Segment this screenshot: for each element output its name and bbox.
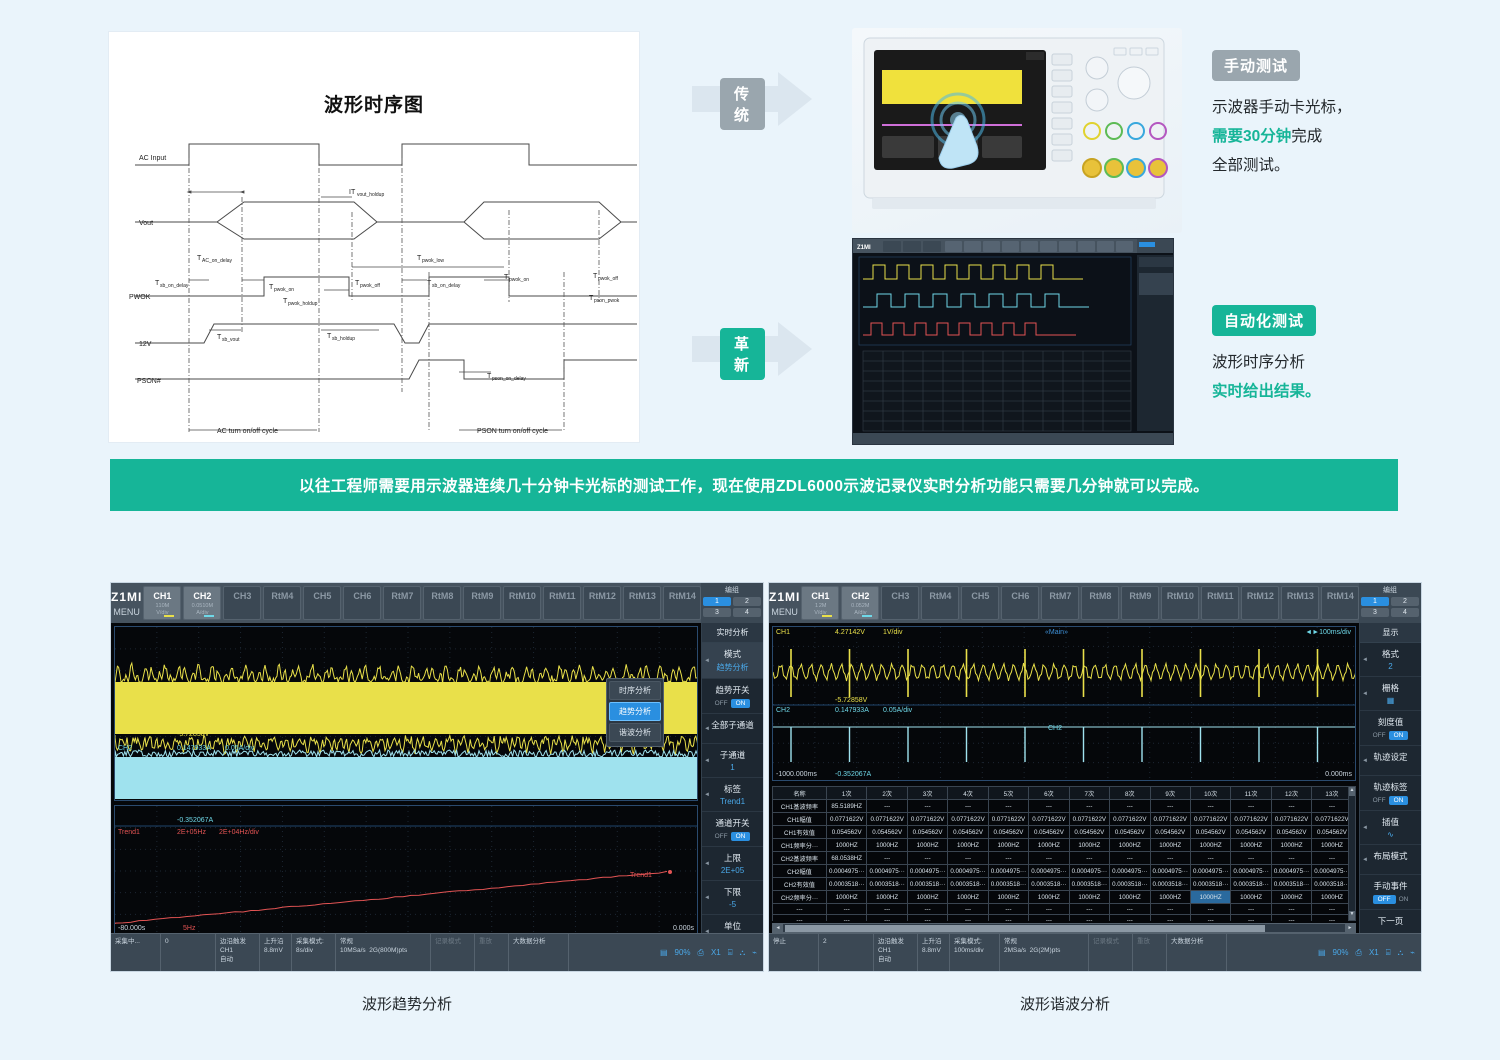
table-cell[interactable]: 1000HZ	[1150, 839, 1190, 852]
table-cell[interactable]: ---	[1069, 852, 1109, 865]
table-cell[interactable]: ---	[1312, 800, 1352, 813]
table-cell[interactable]: 0.0004975···	[1029, 865, 1069, 878]
table-cell[interactable]: 0.0771622V	[1312, 813, 1352, 826]
table-cell[interactable]: ---	[1271, 904, 1311, 915]
table-cell[interactable]: ---	[907, 852, 947, 865]
svg-text:PWOK: PWOK	[129, 294, 151, 301]
menu-item-格式[interactable]: ◄格式2	[1360, 643, 1421, 677]
status-sample: 常规 2MSa/s 2G(2M)pts	[1000, 934, 1089, 971]
table-cell[interactable]: ---	[988, 800, 1028, 813]
table-cell[interactable]: 0.0771622V	[948, 813, 988, 826]
table-cell[interactable]: 1000HZ	[1271, 891, 1311, 904]
table-cell[interactable]: 0.054562V	[1190, 826, 1230, 839]
table-cell[interactable]: 0.0003518···	[1150, 878, 1190, 891]
table-cell[interactable]: ---	[1029, 904, 1069, 915]
popup-item-trend[interactable]: 趋势分析	[609, 702, 661, 721]
table-cell[interactable]: ---	[1150, 904, 1190, 915]
table-cell[interactable]: ---	[1312, 852, 1352, 865]
table-cell[interactable]: ---	[1029, 915, 1069, 922]
svg-text:IT: IT	[349, 189, 356, 196]
menu-item-模式[interactable]: ◄模式趋势分析	[702, 643, 763, 679]
table-cell[interactable]: 0.0771622V	[867, 813, 907, 826]
menu-button-right[interactable]: MENU	[771, 607, 798, 617]
printer-icon[interactable]: ⎙	[698, 948, 704, 958]
sidemenu-items-left: ◄模式趋势分析趋势开关OFFON◄全部子通道◄子通道1◄标签Trend1通道开关…	[702, 643, 763, 949]
channel-tab-ch6[interactable]: CH6	[343, 586, 381, 620]
table-cell[interactable]: 0.0771622V	[1190, 813, 1230, 826]
table-cell[interactable]: ---	[1190, 915, 1230, 922]
table-cell[interactable]: ---	[1190, 800, 1230, 813]
table-cell[interactable]: 1000HZ	[867, 839, 907, 852]
table-cell[interactable]: ---	[1069, 800, 1109, 813]
menu-item-label: 刻度值	[1362, 716, 1419, 728]
acq-rate: 100ms/div	[954, 946, 995, 955]
table-cell[interactable]: 0.0004975···	[1110, 865, 1150, 878]
disk-icon[interactable]: ▤	[1318, 948, 1326, 957]
table-cell[interactable]: 0.054562V	[1312, 826, 1352, 839]
channel-color-bar	[822, 615, 832, 617]
table-cell[interactable]: 68.0538HZ	[827, 852, 867, 865]
channel-color-bar	[164, 615, 174, 617]
table-cell[interactable]: 0.054562V	[827, 826, 867, 839]
table-cell[interactable]: 0.0004975···	[988, 865, 1028, 878]
table-row: ----------------------------------------…	[773, 915, 1353, 922]
table-cell[interactable]: 0.0003518···	[1190, 878, 1230, 891]
channel-tab-rtm10[interactable]: RtM10	[503, 586, 541, 620]
table-cell[interactable]: ---	[1231, 904, 1271, 915]
menu-item-toggle[interactable]: OFFON	[1362, 895, 1419, 904]
channel-tab-rtm9[interactable]: RtM9	[463, 586, 501, 620]
menu-item-布局模式[interactable]: ◄布局模式	[1360, 845, 1421, 875]
record-mode-button[interactable]: 记录模式	[1089, 934, 1133, 971]
sample-mode: 常规	[340, 937, 426, 946]
svg-text:AC turn on/off cycle: AC turn on/off cycle	[217, 428, 278, 435]
toggle-on[interactable]: ON	[731, 832, 751, 841]
channel-tab-ch2[interactable]: CH20.05 10MA/div	[183, 586, 221, 620]
trigger-mode: 自动	[878, 955, 913, 964]
group-btn-3[interactable]: 3	[1361, 608, 1389, 617]
toggle-off[interactable]: OFF	[1373, 732, 1386, 739]
table-row-name: CH1基波频率	[773, 800, 827, 813]
menu-item-toggle[interactable]: OFFON	[704, 832, 761, 841]
table-cell[interactable]: 0.0003518···	[1231, 878, 1271, 891]
table-cell[interactable]: 1000HZ	[1110, 839, 1150, 852]
table-cell[interactable]: 0.0003518···	[827, 878, 867, 891]
table-row-name: CH2基波频率	[773, 852, 827, 865]
menu-item-全部子通道[interactable]: ◄全部子通道	[702, 714, 763, 744]
channel-color-bar	[204, 615, 214, 617]
table-cell[interactable]: 1000HZ	[867, 891, 907, 904]
menu-item-标签[interactable]: ◄标签Trend1	[702, 778, 763, 812]
menu-item-value: ▦	[1362, 696, 1419, 705]
channel-tab-rtm4[interactable]: RtM4	[921, 586, 959, 620]
table-cell[interactable]: 85.5189HZ	[827, 800, 867, 813]
wifi-icon[interactable]: ⌁	[1410, 948, 1415, 957]
wifi-icon[interactable]: ⌁	[752, 948, 757, 957]
table-cell[interactable]: 0.0771622V	[1029, 813, 1069, 826]
table-cell[interactable]: 0.0771622V	[907, 813, 947, 826]
channel-tab-rtm14[interactable]: RtM14	[663, 586, 701, 620]
table-cell[interactable]: 0.0771622V	[1271, 813, 1311, 826]
menu-item-value: ∿	[1362, 830, 1419, 839]
harmonic-table-wrap[interactable]: 名称1次2次3次4次5次6次7次8次9次10次11次12次13次CH1基波频率8…	[772, 786, 1356, 921]
table-cell[interactable]: 1000HZ	[1029, 891, 1069, 904]
table-row: CH1基波频率85.5189HZ------------------------…	[773, 800, 1353, 813]
menu-item-通道开关[interactable]: 通道开关OFFON	[702, 812, 763, 847]
menu-item-轨迹设定[interactable]: ◄轨迹设定	[1360, 746, 1421, 776]
disk-icon[interactable]: ▤	[660, 948, 668, 957]
table-cell[interactable]: 0.0771622V	[1069, 813, 1109, 826]
table-row: CH1幅值0.0771622V0.0771622V0.0771622V0.077…	[773, 813, 1353, 826]
table-cell[interactable]: ---	[867, 800, 907, 813]
table-cell[interactable]: ---	[867, 904, 907, 915]
table-cell[interactable]: 0.0003518···	[867, 878, 907, 891]
table-column-header: 11次	[1231, 787, 1271, 800]
channel-tab-rtm9[interactable]: RtM9	[1121, 586, 1159, 620]
chevron-left-icon: ◄	[704, 895, 710, 901]
usb-icon[interactable]: ⌸	[1386, 948, 1391, 958]
table-row: CH2基波频率68.0538HZ------------------------…	[773, 852, 1353, 865]
table-row-name: CH1频率分···	[773, 839, 827, 852]
bigdata-analysis-button[interactable]: 大数据分析	[1167, 934, 1227, 971]
table-cell[interactable]: 0.0003518···	[1110, 878, 1150, 891]
usb-icon[interactable]: ⌸	[728, 948, 733, 958]
table-cell[interactable]: 0.0003518···	[1069, 878, 1109, 891]
table-cell[interactable]: 1000HZ	[827, 839, 867, 852]
channel-tab-rtm12[interactable]: RtM12	[1241, 586, 1279, 620]
group-btn-2[interactable]: 2	[1391, 597, 1419, 606]
table-cell[interactable]: 0.0771622V	[1150, 813, 1190, 826]
channel-tab-rtm11[interactable]: RtM11	[1201, 586, 1239, 620]
menu-item-label: 全部子通道	[704, 719, 761, 731]
table-cell[interactable]: 0.0003518···	[1271, 878, 1311, 891]
brand-text: Z1MI	[769, 590, 800, 604]
table-cell[interactable]: 0.0003518···	[907, 878, 947, 891]
network-icon[interactable]: ⛬	[1398, 948, 1404, 958]
table-cell[interactable]: 1000HZ	[1190, 839, 1230, 852]
svg-text:sb_on_delay: sb_on_delay	[432, 283, 461, 289]
menu-item-栅格[interactable]: ◄栅格▦	[1360, 677, 1421, 711]
channel-tab-rtm11[interactable]: RtM11	[543, 586, 581, 620]
table-cell[interactable]: ---	[1271, 852, 1311, 865]
table-cell[interactable]: 0.0003518···	[1029, 878, 1069, 891]
time-right: 0.000ms	[1325, 771, 1352, 778]
group-btn-2[interactable]: 2	[733, 597, 761, 606]
channel-tab-ch5[interactable]: CH5	[303, 586, 341, 620]
table-cell[interactable]: 1000HZ	[1231, 891, 1271, 904]
table-cell[interactable]: 1000HZ	[988, 891, 1028, 904]
scope-waveform-area-right[interactable]: CH1 4.27142V 1V/div «Main» ◄►100ms/div -…	[769, 623, 1359, 933]
menu-item-toggle[interactable]: OFFON	[704, 699, 761, 708]
table-cell[interactable]: 1000HZ	[948, 891, 988, 904]
menu-item-轨迹标签[interactable]: 轨迹标签OFFON	[1360, 776, 1421, 811]
table-cell[interactable]: 0.0004975···	[1190, 865, 1230, 878]
table-row: ----------------------------------------…	[773, 904, 1353, 915]
table-cell[interactable]: 0.0004975···	[948, 865, 988, 878]
table-cell[interactable]: ---	[1110, 904, 1150, 915]
channel-tab-ch1[interactable]: CH11 2MV/div	[801, 586, 839, 620]
table-cell[interactable]: 0.054562V	[907, 826, 947, 839]
table-cell[interactable]: 1000HZ	[1190, 891, 1230, 904]
bigdata-analysis-button[interactable]: 大数据分析	[509, 934, 569, 971]
disk-usage-label: 90%	[1333, 948, 1349, 957]
popup-item-harmonic[interactable]: 谐波分析	[609, 723, 661, 742]
status-trigger: 边沿触发 CH1 自动	[874, 934, 918, 971]
table-cell[interactable]: ---	[988, 904, 1028, 915]
menu-item-子通道[interactable]: ◄子通道1	[702, 744, 763, 778]
toggle-off[interactable]: OFF	[1373, 895, 1396, 904]
table-cell[interactable]: ---	[1312, 904, 1352, 915]
menu-item-label: 标签	[704, 783, 761, 795]
menu-item-刻度值[interactable]: 刻度值OFFON	[1360, 711, 1421, 746]
group-btn-4[interactable]: 4	[733, 608, 761, 617]
table-cell[interactable]: 1000HZ	[1312, 891, 1352, 904]
scope-screenshot-trend: Z1MI MENU CH11 10MV/divCH20.05 10MA/divC…	[110, 582, 764, 972]
svg-text:pwok_on: pwok_on	[509, 277, 529, 283]
table-cell[interactable]: 0.0771622V	[1231, 813, 1271, 826]
svg-text:vout_holdup: vout_holdup	[357, 192, 384, 198]
chevron-left-icon: ◄	[704, 658, 710, 664]
table-cell[interactable]: ---	[1190, 904, 1230, 915]
channel-tab-rtm14[interactable]: RtM14	[1321, 586, 1359, 620]
menu-item-插值[interactable]: ◄插值∿	[1360, 811, 1421, 845]
table-cell[interactable]: 0.0771622V	[827, 813, 867, 826]
menu-item-value: -5	[704, 900, 761, 909]
table-cell[interactable]: ---	[1271, 800, 1311, 813]
table-cell[interactable]: ---	[1110, 800, 1150, 813]
table-cell[interactable]: 0.0771622V	[1110, 813, 1150, 826]
table-cell[interactable]: ---	[1231, 852, 1271, 865]
table-cell[interactable]: 1000HZ	[1110, 891, 1150, 904]
ch2-scale: 0.05A/div	[225, 745, 254, 752]
channel-tab-ch1[interactable]: CH11 10MV/div	[143, 586, 181, 620]
status-state: 停止	[769, 934, 819, 971]
channel-tab-rtm7[interactable]: RtM7	[383, 586, 421, 620]
popup-item-timing[interactable]: 时序分析	[609, 681, 661, 700]
channel-tab-rtm8[interactable]: RtM8	[1081, 586, 1119, 620]
toggle-off[interactable]: OFF	[1373, 797, 1386, 804]
freq-marker: 5Hz	[183, 925, 195, 932]
toggle-on[interactable]: ON	[731, 699, 751, 708]
group-btn-4[interactable]: 4	[1391, 608, 1419, 617]
disk-usage-label: 90%	[675, 948, 691, 957]
status-state: 采集中...	[111, 934, 161, 971]
svg-text:sb_on_delay: sb_on_delay	[160, 283, 189, 289]
menu-item-label: 通道开关	[704, 817, 761, 829]
trend-trace-left	[115, 806, 697, 934]
timing-diagram-svg: AC Input Vout PWOK 12V PSON# ITvout_hold…	[109, 32, 641, 444]
table-cell[interactable]: 1000HZ	[907, 839, 947, 852]
analysis-mode-popup[interactable]: 时序分析 趋势分析 谐波分析	[606, 678, 664, 747]
table-cell[interactable]: ---	[1029, 852, 1069, 865]
replay-button[interactable]: 重放	[1133, 934, 1167, 971]
table-cell[interactable]: ---	[988, 852, 1028, 865]
statusbar-left: 采集中... 0 边沿触发 CH1 自动 上升沿 8.8mV 采集模式: 8s/…	[111, 933, 763, 971]
table-column-header: 3次	[907, 787, 947, 800]
group-btn-3[interactable]: 3	[703, 608, 731, 617]
table-cell[interactable]: 1000HZ	[1271, 839, 1311, 852]
scroll-right-arrow-icon[interactable]: ►	[1345, 924, 1355, 932]
svg-text:pwok_low: pwok_low	[422, 258, 444, 264]
table-column-header: 13次	[1312, 787, 1352, 800]
channel-tab-label: CH2	[851, 591, 869, 601]
group-selector-left: 编组 12 34	[701, 583, 763, 623]
table-cell[interactable]: ---	[1231, 915, 1271, 922]
table-cell[interactable]: ---	[948, 800, 988, 813]
table-cell[interactable]: ---	[1190, 852, 1230, 865]
table-cell[interactable]: 0.054562V	[867, 826, 907, 839]
table-row: CH1有效值0.054562V0.054562V0.054562V0.05456…	[773, 826, 1353, 839]
table-cell[interactable]: 0.054562V	[1271, 826, 1311, 839]
menu-item-趋势开关[interactable]: 趋势开关OFFON	[702, 679, 763, 714]
table-cell[interactable]: 0.0771622V	[988, 813, 1028, 826]
toggle-on[interactable]: ON	[1389, 731, 1409, 740]
channel-tab-ch3[interactable]: CH3	[881, 586, 919, 620]
menu-item-label: 格式	[1362, 648, 1419, 660]
table-cell[interactable]: ---	[827, 904, 867, 915]
toggle-off[interactable]: OFF	[715, 700, 728, 707]
svg-text:Vout: Vout	[139, 220, 153, 227]
status-edge: 上升沿 8.8mV	[260, 934, 292, 971]
table-cell[interactable]: ---	[1029, 800, 1069, 813]
toggle-on[interactable]: ON	[1389, 796, 1409, 805]
table-cell[interactable]: ---	[948, 852, 988, 865]
channel-tab-ch5[interactable]: CH5	[961, 586, 999, 620]
table-cell[interactable]: ---	[948, 915, 988, 922]
table-cell[interactable]: 0.0004975···	[827, 865, 867, 878]
table-cell[interactable]: 0.054562V	[988, 826, 1028, 839]
trend-pane-left: -0.352067A Trend1 2E+05Hz 2E+04Hz/div Tr…	[114, 805, 698, 935]
table-cell[interactable]: 0.0004975···	[867, 865, 907, 878]
table-cell[interactable]: ---	[1069, 915, 1109, 922]
record-mode-button[interactable]: 记录模式	[431, 934, 475, 971]
channel-tab-rtm12[interactable]: RtM12	[583, 586, 621, 620]
sample-rate: 2MSa/s	[1004, 947, 1026, 954]
table-cell[interactable]: 0.054562V	[1150, 826, 1190, 839]
printer-icon[interactable]: ⎙	[1356, 948, 1362, 958]
table-cell[interactable]: 1000HZ	[1312, 839, 1352, 852]
network-icon[interactable]: ⛬	[740, 948, 746, 958]
time-left: -80.000s	[118, 925, 145, 932]
table-cell[interactable]: ---	[1150, 852, 1190, 865]
table-cell[interactable]: 0.054562V	[1069, 826, 1109, 839]
scroll-left-arrow-icon[interactable]: ◄	[773, 924, 783, 932]
table-cell[interactable]: 1000HZ	[1069, 839, 1109, 852]
table-cell[interactable]: 1000HZ	[1231, 839, 1271, 852]
table-cell[interactable]: ---	[1150, 800, 1190, 813]
channel-tab-rtm7[interactable]: RtM7	[1041, 586, 1079, 620]
toggle-on[interactable]: ON	[1399, 896, 1409, 903]
trend-trace-label: Trend1	[630, 872, 652, 879]
caption-harmonic-analysis: 波形谐波分析	[1020, 993, 1110, 1014]
channel-tab-rtm4[interactable]: RtM4	[263, 586, 301, 620]
waveform-pane-right: CH1 4.27142V 1V/div «Main» ◄►100ms/div -…	[772, 626, 1356, 781]
menu-item-label: 模式	[704, 648, 761, 660]
menu-item-toggle[interactable]: OFFON	[1362, 731, 1419, 740]
scroll-thumb[interactable]	[785, 925, 1265, 932]
table-cell[interactable]: ---	[907, 904, 947, 915]
table-cell[interactable]: 0.0004975···	[1271, 865, 1311, 878]
trend-label: Trend1	[118, 829, 140, 836]
innovation-badge: 革新	[720, 328, 765, 380]
channel-tab-ch2[interactable]: CH20.05 2MA/div	[841, 586, 879, 620]
channel-tab-rtm10[interactable]: RtM10	[1161, 586, 1199, 620]
table-cell[interactable]: 0.0003518···	[988, 878, 1028, 891]
scroll-down-arrow-icon[interactable]: ▼	[1349, 911, 1355, 920]
table-cell[interactable]: 0.054562V	[1029, 826, 1069, 839]
menu-item-toggle[interactable]: OFFON	[1362, 796, 1419, 805]
ch2-value: 0.147933A	[835, 707, 869, 714]
table-cell[interactable]: ---	[907, 915, 947, 922]
table-cell[interactable]: 0.054562V	[948, 826, 988, 839]
menu-button-left[interactable]: MENU	[113, 607, 140, 617]
table-cell[interactable]: ---	[907, 800, 947, 813]
table-cell[interactable]: 1000HZ	[988, 839, 1028, 852]
table-cell[interactable]: ---	[827, 915, 867, 922]
menu-item-下限[interactable]: ◄下限-5	[702, 881, 763, 915]
table-cell[interactable]: ---	[1150, 915, 1190, 922]
table-cell[interactable]: 1000HZ	[827, 891, 867, 904]
channel-tab-rtm8[interactable]: RtM8	[423, 586, 461, 620]
table-cell[interactable]: 1000HZ	[1069, 891, 1109, 904]
table-cell[interactable]: ---	[1231, 800, 1271, 813]
table-cell[interactable]: 0.054562V	[1231, 826, 1271, 839]
table-cell[interactable]: ---	[948, 904, 988, 915]
table-cell[interactable]: 1000HZ	[1029, 839, 1069, 852]
channel-tab-ch3[interactable]: CH3	[223, 586, 261, 620]
table-cell[interactable]: 1000HZ	[907, 891, 947, 904]
table-cell[interactable]: ---	[988, 915, 1028, 922]
table-vertical-scrollbar[interactable]: ▲ ▼	[1348, 786, 1356, 921]
channel-tab-ch6[interactable]: CH6	[1001, 586, 1039, 620]
table-cell[interactable]: 0.0004975···	[907, 865, 947, 878]
table-cell[interactable]: 0.0003518···	[1312, 878, 1352, 891]
scroll-up-arrow-icon[interactable]: ▲	[1349, 787, 1355, 796]
menu-item-上限[interactable]: ◄上限2E+05	[702, 847, 763, 881]
group-btn-1[interactable]: 1	[1361, 597, 1389, 606]
group-btn-1[interactable]: 1	[703, 597, 731, 606]
channel-tab-label: CH2	[193, 591, 211, 601]
chevron-left-icon: ◄	[1362, 691, 1368, 697]
table-cell[interactable]: ---	[867, 915, 907, 922]
table-cell[interactable]: ---	[867, 852, 907, 865]
scope-waveform-area-left[interactable]: CH1 4.27142V 1V/div «Main» -5.72858V CH2…	[111, 623, 701, 933]
table-cell[interactable]: ---	[1312, 915, 1352, 922]
replay-button[interactable]: 重放	[475, 934, 509, 971]
table-cell[interactable]: ---	[1069, 904, 1109, 915]
toggle-off[interactable]: OFF	[715, 833, 728, 840]
table-cell[interactable]: 0.0004975···	[1150, 865, 1190, 878]
table-cell[interactable]: 0.0004975···	[1312, 865, 1352, 878]
table-row: CH2幅值0.0004975···0.0004975···0.0004975··…	[773, 865, 1353, 878]
table-cell[interactable]: 1000HZ	[1150, 891, 1190, 904]
table-cell[interactable]: 0.0003518···	[948, 878, 988, 891]
table-cell[interactable]: 0.0004975···	[1069, 865, 1109, 878]
manual-test-note: 手动测试 示波器手动卡光标， 需要30分钟完成 全部测试。	[1212, 50, 1352, 180]
channel-tab-rtm13[interactable]: RtM13	[1281, 586, 1319, 620]
table-cell[interactable]: ---	[1271, 915, 1311, 922]
table-cell[interactable]: 1000HZ	[948, 839, 988, 852]
menu-item-手动事件[interactable]: 手动事件OFFON	[1360, 875, 1421, 910]
channel-tab-rtm13[interactable]: RtM13	[623, 586, 661, 620]
table-cell[interactable]: ---	[1110, 915, 1150, 922]
table-cell[interactable]: 0.0004975···	[1231, 865, 1271, 878]
ch1-label: CH1	[776, 629, 790, 636]
table-cell[interactable]: ---	[1110, 852, 1150, 865]
table-horizontal-scrollbar[interactable]: ◄ ►	[772, 923, 1356, 933]
table-cell[interactable]: 0.054562V	[1110, 826, 1150, 839]
ch1-offset: -5.72858V	[835, 697, 867, 704]
